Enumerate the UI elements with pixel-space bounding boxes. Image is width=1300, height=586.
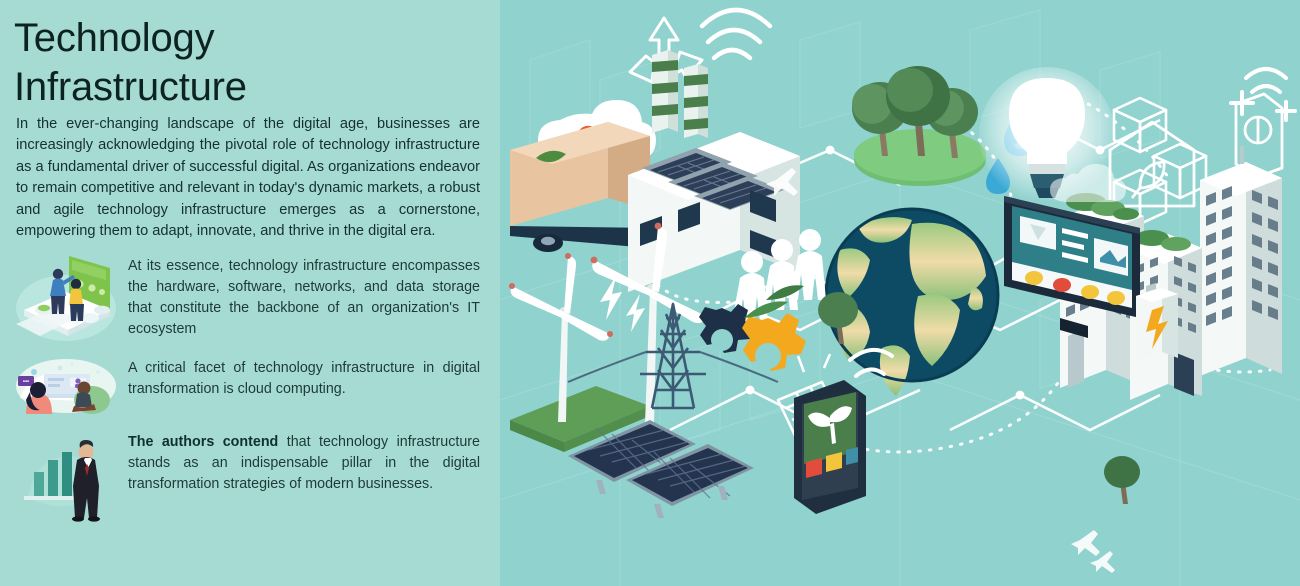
- isometric-smart-city-illustration: CO 2: [500, 0, 1300, 586]
- infographic-page: Technology Infrastructure In the ever-ch…: [0, 0, 1300, 586]
- battery-icon: [1136, 283, 1178, 360]
- list-item-text: The authors contend that technology infr…: [128, 426, 480, 495]
- businessman-bar-chart-icon: [14, 426, 118, 522]
- list-item: The authors contend that technology infr…: [14, 426, 486, 522]
- list-item: ••• A critical facet of: [14, 352, 486, 414]
- illustration-panel: CO 2: [500, 0, 1300, 586]
- isometric-video-meeting-icon: •••: [14, 352, 118, 414]
- list-item-text: At its essence, technology infrastructur…: [128, 248, 480, 340]
- isometric-team-dashboard-icon: [14, 248, 118, 346]
- smartphone-sprout-icon: [794, 380, 866, 514]
- page-title: Technology Infrastructure: [14, 14, 486, 112]
- list-item: At its essence, technology infrastructur…: [14, 248, 486, 346]
- list-item-lead: The authors contend: [128, 434, 278, 450]
- svg-text:•••: •••: [23, 380, 29, 386]
- left-text-panel: Technology Infrastructure In the ever-ch…: [0, 0, 500, 586]
- intro-paragraph: In the ever-changing landscape of the di…: [16, 114, 480, 242]
- list-item-text: A critical facet of technology infrastru…: [128, 352, 480, 400]
